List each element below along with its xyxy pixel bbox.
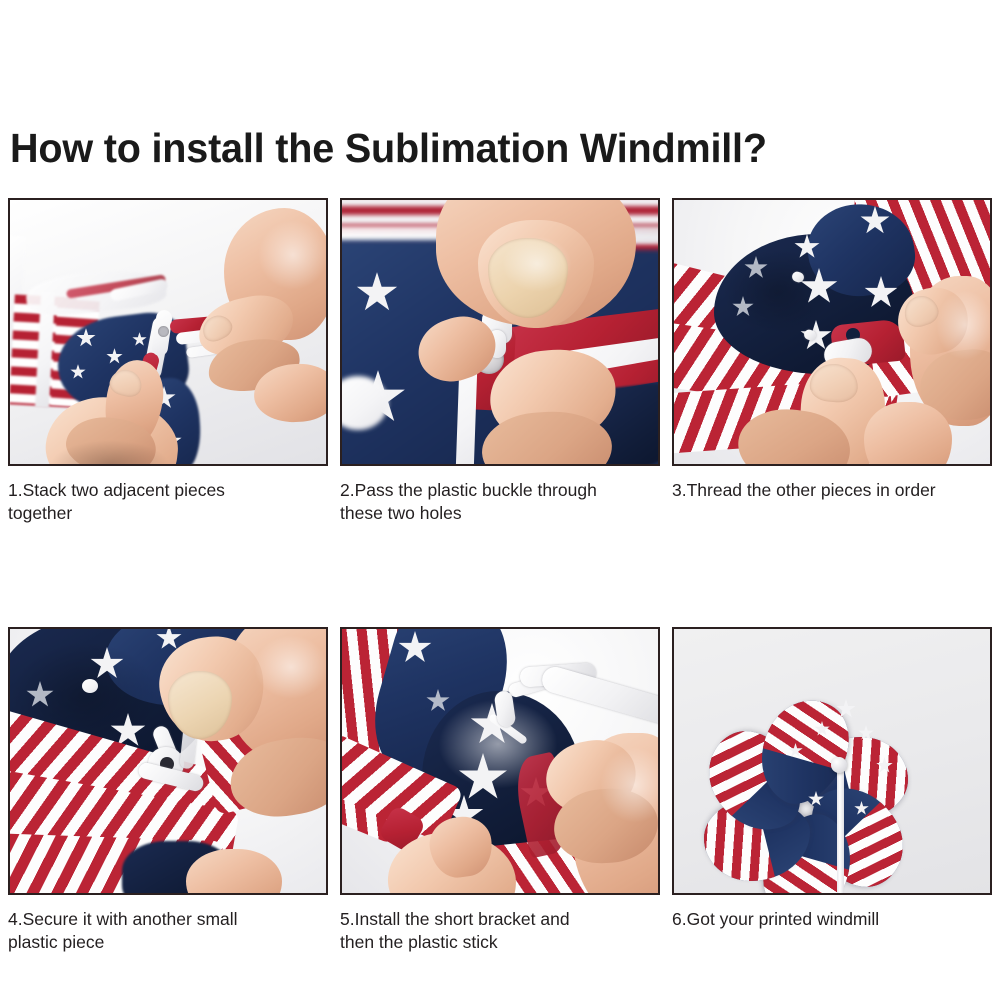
highlight bbox=[502, 236, 572, 292]
windmill-stick bbox=[837, 765, 844, 895]
highlight bbox=[600, 747, 660, 823]
hand-left-finger-2 bbox=[864, 402, 952, 466]
page-title: How to install the Sublimation Windmill? bbox=[10, 124, 956, 172]
step-2-caption: 2.Pass the plastic buckle through these … bbox=[340, 479, 670, 525]
punched-hole bbox=[158, 326, 169, 337]
step-1-caption: 1.Stack two adjacent pieces together bbox=[8, 479, 338, 525]
step-5-photo bbox=[340, 627, 660, 895]
step-3: 3.Thread the other pieces in order bbox=[672, 198, 992, 525]
step-1: 1.Stack two adjacent pieces together bbox=[8, 198, 328, 525]
windmill-hub bbox=[831, 757, 847, 773]
step-4: 4.Secure it with another small plastic p… bbox=[8, 627, 328, 954]
steps-grid: 1.Stack two adjacent pieces together bbox=[8, 198, 992, 954]
highlight bbox=[258, 220, 328, 290]
finished-windmill bbox=[718, 657, 954, 853]
star-blob bbox=[82, 679, 98, 693]
step-5: 5.Install the short bracket and then the… bbox=[340, 627, 660, 954]
highlight bbox=[254, 635, 328, 699]
step-3-caption: 3.Thread the other pieces in order bbox=[672, 479, 1000, 502]
step-1-photo bbox=[8, 198, 328, 466]
steps-row-bottom: 4.Secure it with another small plastic p… bbox=[8, 627, 992, 954]
step-2-photo bbox=[340, 198, 660, 466]
step-4-caption: 4.Secure it with another small plastic p… bbox=[8, 908, 338, 954]
shadow bbox=[50, 440, 170, 466]
highlight bbox=[936, 290, 992, 360]
step-4-photo bbox=[8, 627, 328, 895]
step-3-photo bbox=[672, 198, 992, 466]
step-6-photo bbox=[672, 627, 992, 895]
steps-row-top: 1.Stack two adjacent pieces together bbox=[8, 198, 992, 525]
step-6: 6.Got your printed windmill bbox=[672, 627, 992, 954]
step-6-caption: 6.Got your printed windmill bbox=[672, 908, 1000, 931]
step-5-caption: 5.Install the short bracket and then the… bbox=[340, 908, 670, 954]
step-2: 2.Pass the plastic buckle through these … bbox=[340, 198, 660, 525]
